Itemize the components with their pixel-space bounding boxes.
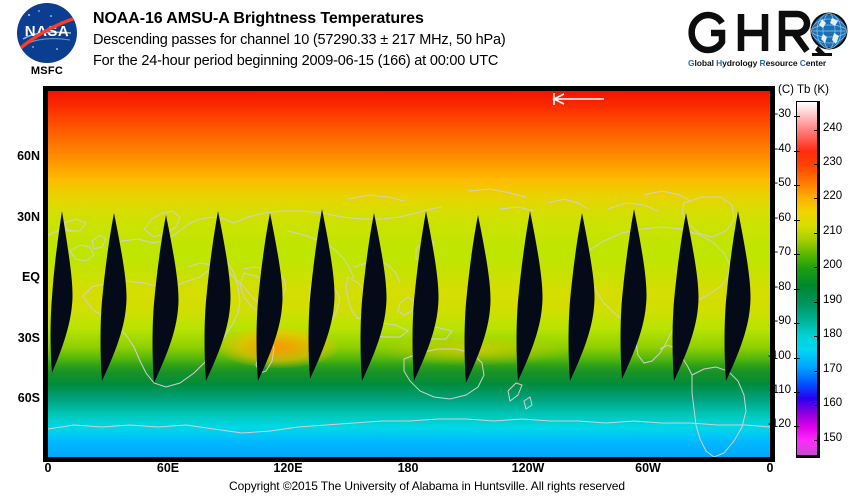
colorbar-label-k-170: 170 — [823, 363, 854, 375]
colorbar-tick-k-210 — [814, 233, 820, 234]
colorbar-tick-k-170 — [814, 371, 820, 372]
x-tick-label-60w: 60W — [618, 461, 678, 475]
colorbar-tick-c-110 — [794, 392, 800, 393]
ghrc-lettermark-icon — [686, 6, 848, 58]
x-tick-label-360: 0 — [740, 461, 800, 475]
colorbar-tick-c-100 — [794, 358, 800, 359]
ghrc-logo: Global Hydrology Resource Center — [686, 6, 848, 78]
colorbar-tick-c-30 — [794, 116, 800, 117]
colorbar-label-c-110: -110 — [757, 384, 791, 396]
nasa-swoosh-icon — [17, 15, 77, 53]
y-tick-label-eq: EQ — [2, 270, 40, 284]
colorbar-label-c-60: -60 — [757, 212, 791, 224]
colorbar-label-k-160: 160 — [823, 397, 854, 409]
colorbar-tick-k-180 — [814, 336, 820, 337]
colorbar-tick-c-50 — [794, 185, 800, 186]
colorbar-label-c-40: -40 — [757, 143, 791, 155]
colorbar-label-c-80: -80 — [757, 281, 791, 293]
x-tick-label-180: 180 — [378, 461, 438, 475]
colorbar-title: (C) Tb (K) — [778, 84, 829, 96]
y-tick-label-30s: 30S — [2, 331, 40, 345]
y-tick-label-60n: 60N — [2, 149, 40, 163]
map-plot-area[interactable] — [48, 91, 770, 457]
nasa-insignia-ball: NASA — [17, 3, 77, 63]
map-border — [43, 86, 775, 462]
colorbar-tick-c-120 — [794, 426, 800, 427]
colorbar-tick-k-200 — [814, 267, 820, 268]
colorbar-label-c-100: -100 — [757, 350, 791, 362]
y-tick-label-30n: 30N — [2, 210, 40, 224]
title-subtitle-period: For the 24-hour period beginning 2009-06… — [93, 51, 673, 72]
colorbar-tick-c-80 — [794, 289, 800, 290]
colorbar-tick-k-150 — [814, 440, 820, 441]
x-tick-label-0: 0 — [18, 461, 78, 475]
colorbar[interactable]: -30-40-50-60-70-80-90-100-110-1202402302… — [796, 101, 820, 458]
y-tick-label-60s: 60S — [2, 391, 40, 405]
colorbar-tick-c-90 — [794, 323, 800, 324]
colorbar-label-k-200: 200 — [823, 259, 854, 271]
header: NASA MSFC NOAA-16 AMSU-A Brightness Temp… — [0, 0, 854, 88]
colorbar-tick-c-40 — [794, 151, 800, 152]
colorbar-label-k-190: 190 — [823, 294, 854, 306]
colorbar-tick-k-230 — [814, 164, 820, 165]
colorbar-label-k-180: 180 — [823, 328, 854, 340]
x-tick-label-120e: 120E — [258, 461, 318, 475]
colorbar-tick-c-70 — [794, 254, 800, 255]
colorbar-tick-c-60 — [794, 220, 800, 221]
scale-arrow-marker-icon — [48, 91, 770, 457]
title-subtitle-channel: Descending passes for channel 10 (57290.… — [93, 30, 673, 51]
colorbar-label-k-220: 220 — [823, 190, 854, 202]
nasa-logo: NASA MSFC — [8, 3, 86, 83]
colorbar-label-c-50: -50 — [757, 177, 791, 189]
colorbar-label-k-240: 240 — [823, 122, 854, 134]
colorbar-label-c-120: -120 — [757, 418, 791, 430]
colorbar-label-c-90: -90 — [757, 315, 791, 327]
page-title: NOAA-16 AMSU-A Brightness Temperatures — [93, 8, 673, 30]
colorbar-label-c-70: -70 — [757, 246, 791, 258]
colorbar-label-k-150: 150 — [823, 432, 854, 444]
colorbar-label-c-30: -30 — [757, 108, 791, 120]
nasa-center-label: MSFC — [8, 65, 86, 77]
ghrc-subtitle: Global Hydrology Resource Center — [688, 58, 846, 68]
colorbar-gradient — [797, 102, 817, 455]
colorbar-label-k-210: 210 — [823, 225, 854, 237]
colorbar-tick-k-160 — [814, 405, 820, 406]
colorbar-label-k-230: 230 — [823, 156, 854, 168]
x-tick-label-120w: 120W — [498, 461, 558, 475]
copyright-notice: Copyright ©2015 The University of Alabam… — [0, 479, 854, 493]
colorbar-tick-k-220 — [814, 198, 820, 199]
colorbar-tick-k-190 — [814, 302, 820, 303]
colorbar-tick-k-240 — [814, 130, 820, 131]
title-block: NOAA-16 AMSU-A Brightness Temperatures D… — [93, 8, 673, 72]
x-tick-label-60e: 60E — [138, 461, 198, 475]
